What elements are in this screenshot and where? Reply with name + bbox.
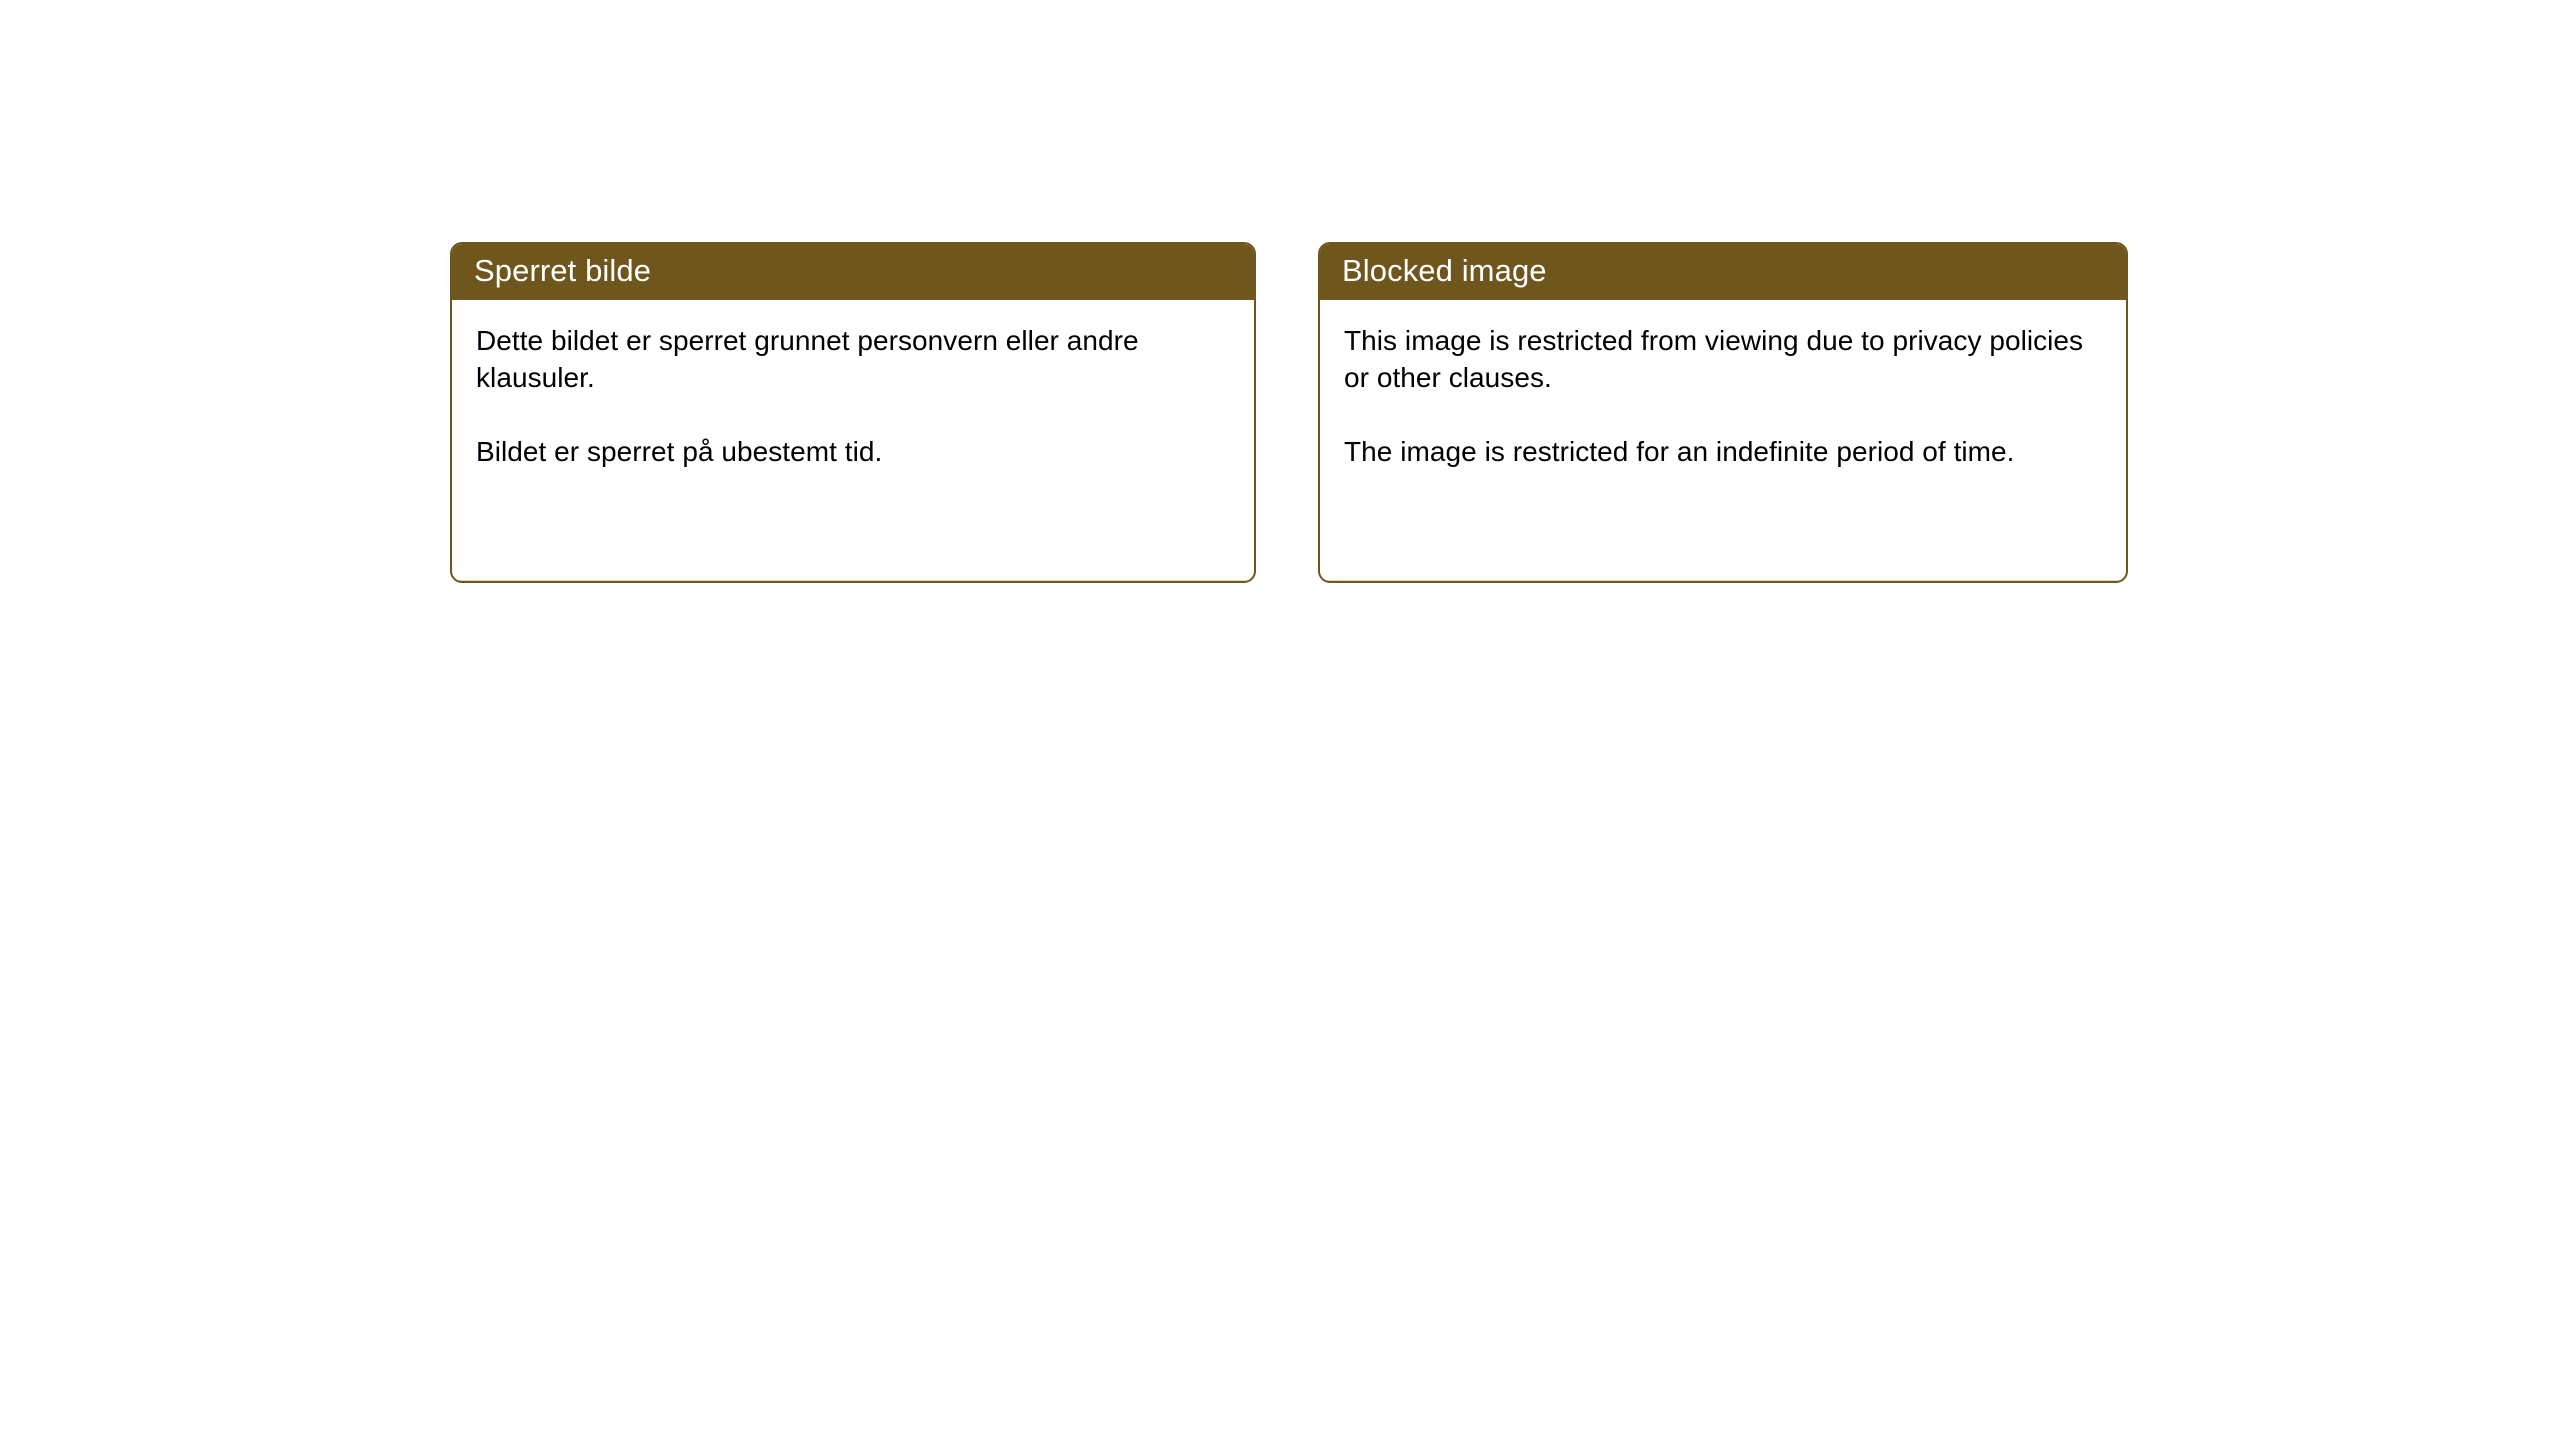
card-header-no: Sperret bilde — [450, 242, 1256, 300]
card-title-en: Blocked image — [1342, 253, 1547, 289]
card-paragraph-primary-en: This image is restricted from viewing du… — [1344, 322, 2102, 396]
card-paragraph-secondary-en: The image is restricted for an indefinit… — [1344, 433, 2102, 470]
page-canvas: Sperret bilde Dette bildet er sperret gr… — [0, 0, 2560, 1440]
card-paragraph-primary-no: Dette bildet er sperret grunnet personve… — [476, 322, 1230, 396]
card-header-en: Blocked image — [1318, 242, 2128, 300]
card-paragraph-secondary-no: Bildet er sperret på ubestemt tid. — [476, 433, 1230, 470]
card-body-no: Dette bildet er sperret grunnet personve… — [452, 300, 1254, 470]
blocked-image-notice-card-no: Sperret bilde Dette bildet er sperret gr… — [450, 242, 1256, 583]
card-title-no: Sperret bilde — [474, 253, 651, 289]
card-body-en: This image is restricted from viewing du… — [1320, 300, 2126, 470]
blocked-image-notice-card-en: Blocked image This image is restricted f… — [1318, 242, 2128, 583]
